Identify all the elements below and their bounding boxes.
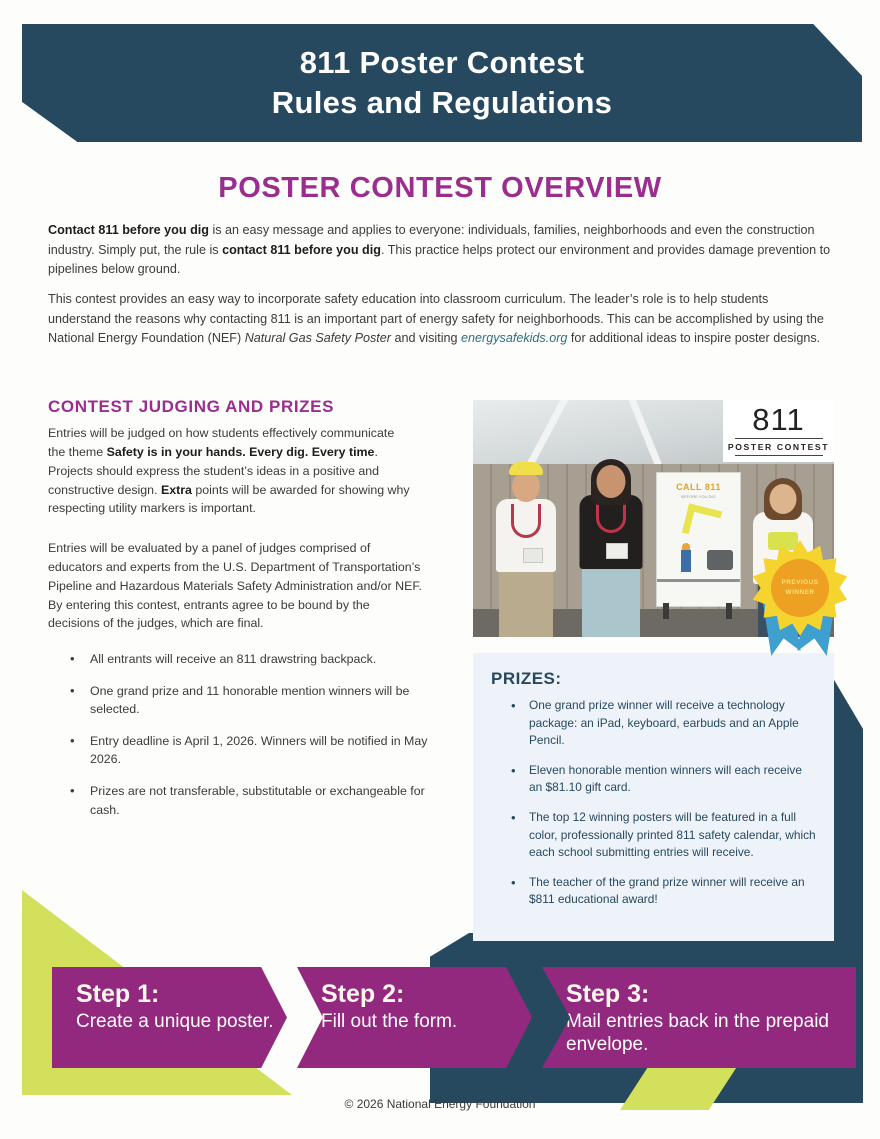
poster-ground-line — [657, 579, 740, 582]
judging-theme-bold: Safety is in your hands. Every dig. Ever… — [107, 445, 375, 459]
person-head — [597, 465, 626, 498]
judging-paragraph-1: Entries will be judged on how students e… — [48, 424, 413, 518]
overview-bold-mid: contact 811 before you dig — [222, 243, 381, 257]
energysafekids-link[interactable]: energysafekids.org — [461, 331, 567, 345]
step-1-number: Step 1: — [76, 980, 275, 1008]
logo-subtitle: POSTER CONTEST — [728, 442, 829, 452]
header-banner: 811 Poster Contest Rules and Regulations — [22, 24, 862, 142]
person-head — [512, 471, 540, 502]
judging-extra-bold: Extra — [161, 483, 192, 497]
document-page: 811 Poster Contest Rules and Regulations… — [0, 0, 880, 1139]
step-2: Step 2: Fill out the form. — [297, 967, 532, 1068]
easel-leg-right — [726, 603, 732, 619]
footer-copyright: © 2026 National Energy Foundation — [0, 1097, 880, 1111]
photo-poster-on-easel: CALL 811 BEFORE YOU DIG — [656, 472, 741, 607]
list-item: Entry deadline is April 1, 2026. Winners… — [48, 732, 438, 769]
excavator-body — [707, 550, 733, 570]
previous-winner-badge: PREVIOUS WINNER — [748, 538, 852, 658]
logo-divider-rule-bottom — [735, 455, 823, 456]
811-poster-contest-logo: 811 POSTER CONTEST — [723, 400, 834, 462]
step-3-number: Step 3: — [566, 980, 844, 1008]
entrant-bullet-list: All entrants will receive an 811 drawstr… — [48, 650, 438, 832]
judging-heading: CONTEST JUDGING AND PRIZES — [48, 397, 334, 417]
page-title-line-1: 811 Poster Contest — [300, 43, 585, 83]
list-item: Prizes are not transferable, substitutab… — [48, 782, 438, 819]
person-lanyard — [511, 504, 541, 538]
list-item: One grand prize winner will receive a te… — [491, 697, 816, 750]
step-2-number: Step 2: — [321, 980, 520, 1008]
person-head — [770, 484, 797, 514]
person-badge — [606, 543, 628, 559]
person-legs — [499, 565, 553, 637]
overview-paragraph-1: Contact 811 before you dig is an easy me… — [48, 221, 834, 280]
list-item: The teacher of the grand prize winner wi… — [491, 874, 816, 909]
photo-person-2 — [569, 447, 653, 637]
step-3-description: Mail entries back in the prepaid envelop… — [566, 1010, 844, 1056]
overview-bold-lead: Contact 811 before you dig — [48, 223, 209, 237]
step-1: Step 1: Create a unique poster. — [52, 967, 287, 1068]
badge-line-2: WINNER — [786, 588, 815, 598]
prizes-box: PRIZES: One grand prize winner will rece… — [473, 653, 834, 941]
excavator-arm — [682, 503, 722, 540]
worker-figure — [681, 550, 691, 572]
judging-paragraph-2: Entries will be evaluated by a panel of … — [48, 539, 423, 633]
prizes-bullet-list: One grand prize winner will receive a te… — [491, 697, 816, 909]
badge-inner-circle: PREVIOUS WINNER — [771, 559, 829, 617]
easel-leg-left — [663, 603, 669, 619]
badge-line-1: PREVIOUS — [781, 578, 818, 588]
list-item: The top 12 winning posters will be featu… — [491, 809, 816, 862]
logo-divider-rule — [735, 438, 823, 439]
poster-subtitle-text: BEFORE YOU DIG — [657, 494, 740, 499]
overview-p2-text-2: and visiting — [391, 331, 461, 345]
list-item: All entrants will receive an 811 drawstr… — [48, 650, 438, 669]
list-item: One grand prize and 11 honorable mention… — [48, 682, 438, 719]
person-badge — [523, 548, 543, 563]
person-legs — [582, 565, 640, 637]
logo-811-number: 811 — [752, 404, 804, 435]
overview-paragraph-2: This contest provides an easy way to inc… — [48, 290, 834, 349]
step-3: Step 3: Mail entries back in the prepaid… — [542, 967, 856, 1068]
prizes-heading: PRIZES: — [491, 669, 816, 689]
yellow-cap — [509, 462, 543, 475]
overview-italic-title: Natural Gas Safety Poster — [245, 331, 391, 345]
list-item: Eleven honorable mention winners will ea… — [491, 762, 816, 797]
page-title-line-2: Rules and Regulations — [272, 83, 612, 123]
step-1-description: Create a unique poster. — [76, 1010, 275, 1033]
overview-heading: POSTER CONTEST OVERVIEW — [0, 172, 880, 205]
steps-banner: Step 1: Create a unique poster. Step 2: … — [52, 967, 856, 1068]
photo-person-1 — [487, 462, 565, 637]
step-2-description: Fill out the form. — [321, 1010, 520, 1033]
poster-title-text: CALL 811 — [657, 482, 740, 492]
overview-p2-text-3: for additional ideas to inspire poster d… — [567, 331, 820, 345]
